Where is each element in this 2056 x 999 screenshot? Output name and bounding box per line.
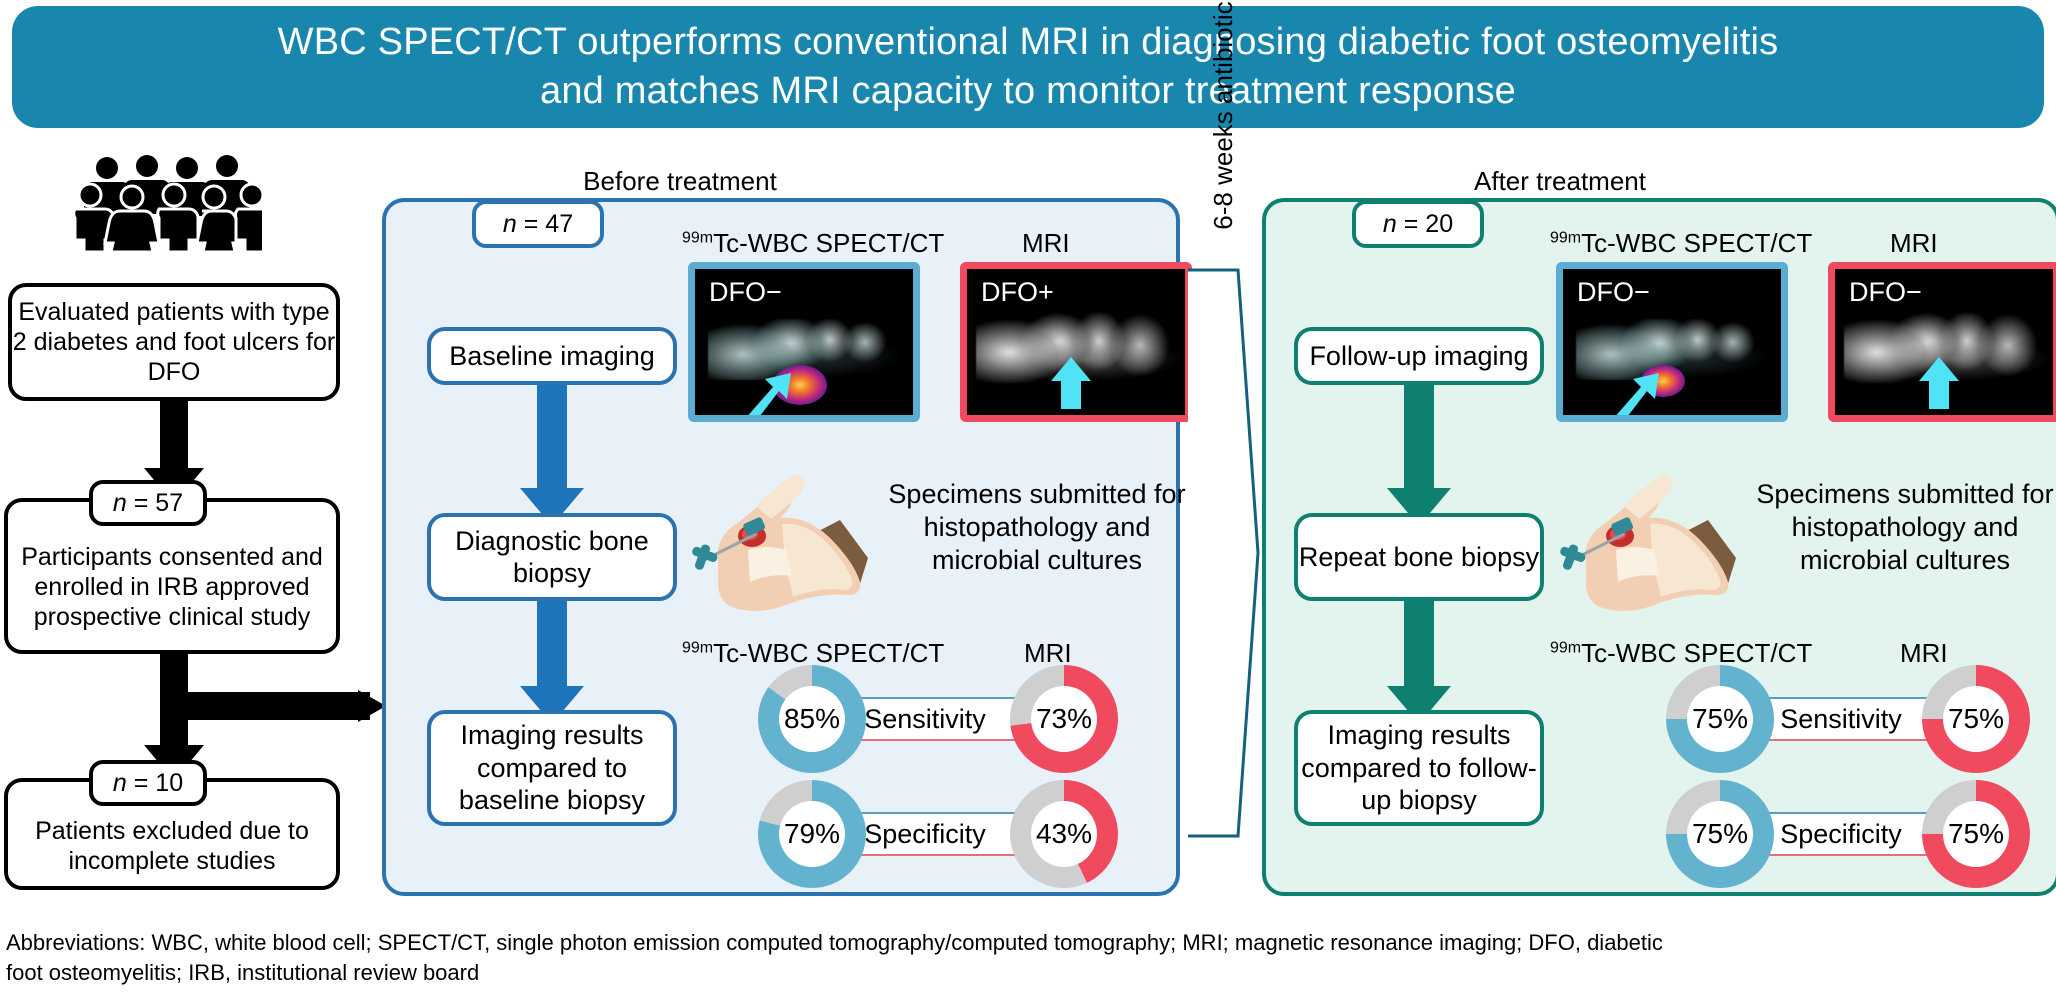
scan-modality-spect-before-sup: 99m [682,229,713,246]
metric-label-sensitivity-before-text: Sensitivity [864,704,986,735]
foot-biopsy-illustration-before [690,462,880,612]
antibiotic-treatment-bracket [1186,268,1260,838]
flow-box-baseline-imaging-label: Baseline imaging [449,340,655,372]
scan-modality-spect-before-label: Tc-WBC SPECT/CT [713,228,944,258]
chart-header-spect-after: 99mTc-WBC SPECT/CT [1550,638,1812,669]
arrow-down-1 [160,401,188,475]
donut-mri-specificity-before: 43% [1010,780,1118,888]
foot-biopsy-illustration-after [1558,462,1748,612]
donut-mri-sensitivity-before-value: 73% [1031,686,1097,752]
panel-before-caption: Before treatment [520,166,840,197]
scan-modality-mri-after-label: MRI [1890,228,1938,258]
metric-label-sensitivity-after-text: Sensitivity [1780,704,1902,735]
scan-spect-after-status: DFO− [1577,277,1650,308]
arrow-after-2 [1404,601,1434,693]
flow-box-participants-consented-label: Participants consented and enrolled in I… [8,520,336,632]
chart-header-spect-before-sup: 99m [682,639,713,656]
scan-mri-after-status: DFO− [1849,277,1922,308]
scan-modality-spect-after-label: Tc-WBC SPECT/CT [1581,228,1812,258]
scan-modality-spect-before: 99mTc-WBC SPECT/CT [682,228,944,259]
cyan-arrow [745,373,791,415]
abbreviations-line-1: Abbreviations: WBC, white blood cell; SP… [6,928,2046,958]
donut-mri-specificity-after: 75% [1922,780,2030,888]
donut-spect-specificity-after-value: 75% [1687,801,1753,867]
metric-label-specificity-before-text: Specificity [864,819,986,850]
panel-after-caption-label: After treatment [1474,166,1646,196]
title-banner: WBC SPECT/CT outperforms conventional MR… [12,6,2044,128]
scan-mri-after: DFO− [1828,262,2056,422]
arrow-after-1 [1404,385,1434,495]
scan-spect-after-image: DFO− [1563,269,1781,415]
specimens-text-before: Specimens submitted for histopathology a… [872,478,1202,577]
donut-mri-specificity-before-value: 43% [1031,801,1097,867]
flow-box-followup-imaging: Follow-up imaging [1294,327,1544,385]
flow-box-imaging-results-baseline: Imaging results compared to baseline bio… [427,710,677,826]
chart-header-spect-after-label: Tc-WBC SPECT/CT [1581,638,1812,668]
donut-mri-sensitivity-before: 73% [1010,665,1118,773]
arrow-right-to-panel [174,692,370,720]
scan-modality-spect-after: 99mTc-WBC SPECT/CT [1550,228,1812,259]
flow-box-diagnostic-bone-biopsy-label: Diagnostic bone biopsy [431,525,673,590]
donut-spect-specificity-before-value: 79% [779,801,845,867]
scan-modality-mri-before-label: MRI [1022,228,1070,258]
chart-header-mri-after: MRI [1900,638,1948,669]
scan-mri-after-image: DFO− [1835,269,2053,415]
flow-box-followup-imaging-label: Follow-up imaging [1309,340,1528,372]
n-tag-20: n = 20 [1352,200,1484,248]
antibiotic-treatment-label-text: 6-8 weeks antibiotic treatment [1208,0,1239,230]
chart-header-spect-after-sup: 99m [1550,639,1581,656]
donut-mri-sensitivity-after-value: 75% [1943,686,2009,752]
flow-box-evaluated-patients-label: Evaluated patients with type 2 diabetes … [12,297,336,387]
flow-box-evaluated-patients: Evaluated patients with type 2 diabetes … [8,283,340,401]
people-group-icon [62,152,262,252]
metric-label-specificity-after-text: Specificity [1780,819,1902,850]
abbreviations-line-2: foot osteomyelitis; IRB, institutional r… [6,958,2046,988]
flow-box-diagnostic-bone-biopsy: Diagnostic bone biopsy [427,513,677,601]
chart-header-spect-before-label: Tc-WBC SPECT/CT [713,638,944,668]
specimens-text-before-label: Specimens submitted for histopathology a… [888,479,1185,575]
abbreviations-footer: Abbreviations: WBC, white blood cell; SP… [6,928,2046,989]
chart-header-mri-after-label: MRI [1900,638,1948,668]
cyan-arrow [1919,357,1959,409]
flow-box-repeat-bone-biopsy: Repeat bone biopsy [1294,513,1544,601]
scan-spect-after: DFO− [1556,262,1788,422]
arrow-before-1 [537,385,567,495]
n-tag-47: n = 47 [472,200,604,248]
specimens-text-after: Specimens submitted for histopathology a… [1740,478,2056,577]
flow-box-imaging-results-followup: Imaging results compared to follow-up bi… [1294,710,1544,826]
n-tag-10: n = 10 [89,760,207,806]
arrow-before-2 [537,601,567,693]
page-title: WBC SPECT/CT outperforms conventional MR… [238,18,1819,115]
cyan-arrow [1051,357,1091,409]
donut-spect-specificity-after: 75% [1666,780,1774,888]
n-tag-57: n = 57 [89,480,207,526]
donut-spect-sensitivity-after-value: 75% [1687,686,1753,752]
panel-after-caption: After treatment [1400,166,1720,197]
scan-spect-before: DFO− [688,262,920,422]
panel-before-caption-label: Before treatment [583,166,777,196]
scan-modality-spect-after-sup: 99m [1550,229,1581,246]
scan-modality-mri-after: MRI [1890,228,1938,259]
donut-spect-sensitivity-before: 85% [758,665,866,773]
antibiotic-treatment-label: 6-8 weeks antibiotic treatment [1186,0,1260,342]
donut-mri-sensitivity-after: 75% [1922,665,2030,773]
flow-box-imaging-results-baseline-label: Imaging results compared to baseline bio… [431,719,673,816]
donut-spect-specificity-before: 79% [758,780,866,888]
chart-header-mri-before-label: MRI [1024,638,1072,668]
scan-spect-before-status: DFO− [709,277,782,308]
specimens-text-after-label: Specimens submitted for histopathology a… [1756,479,2053,575]
scan-modality-mri-before: MRI [1022,228,1070,259]
title-line-1: WBC SPECT/CT outperforms conventional MR… [278,21,1779,63]
title-line-2: and matches MRI capacity to monitor trea… [540,70,1516,112]
cyan-arrow [1613,373,1659,415]
scan-mri-before-image: DFO+ [967,269,1185,415]
scan-mri-before: DFO+ [960,262,1192,422]
flow-box-repeat-bone-biopsy-label: Repeat bone biopsy [1299,541,1539,573]
scan-mri-before-status: DFO+ [981,277,1054,308]
scan-spect-before-image: DFO− [695,269,913,415]
flow-box-baseline-imaging: Baseline imaging [427,327,677,385]
donut-spect-sensitivity-after: 75% [1666,665,1774,773]
donut-mri-specificity-after-value: 75% [1943,801,2009,867]
flow-box-imaging-results-followup-label: Imaging results compared to follow-up bi… [1298,719,1540,816]
donut-spect-sensitivity-before-value: 85% [779,686,845,752]
